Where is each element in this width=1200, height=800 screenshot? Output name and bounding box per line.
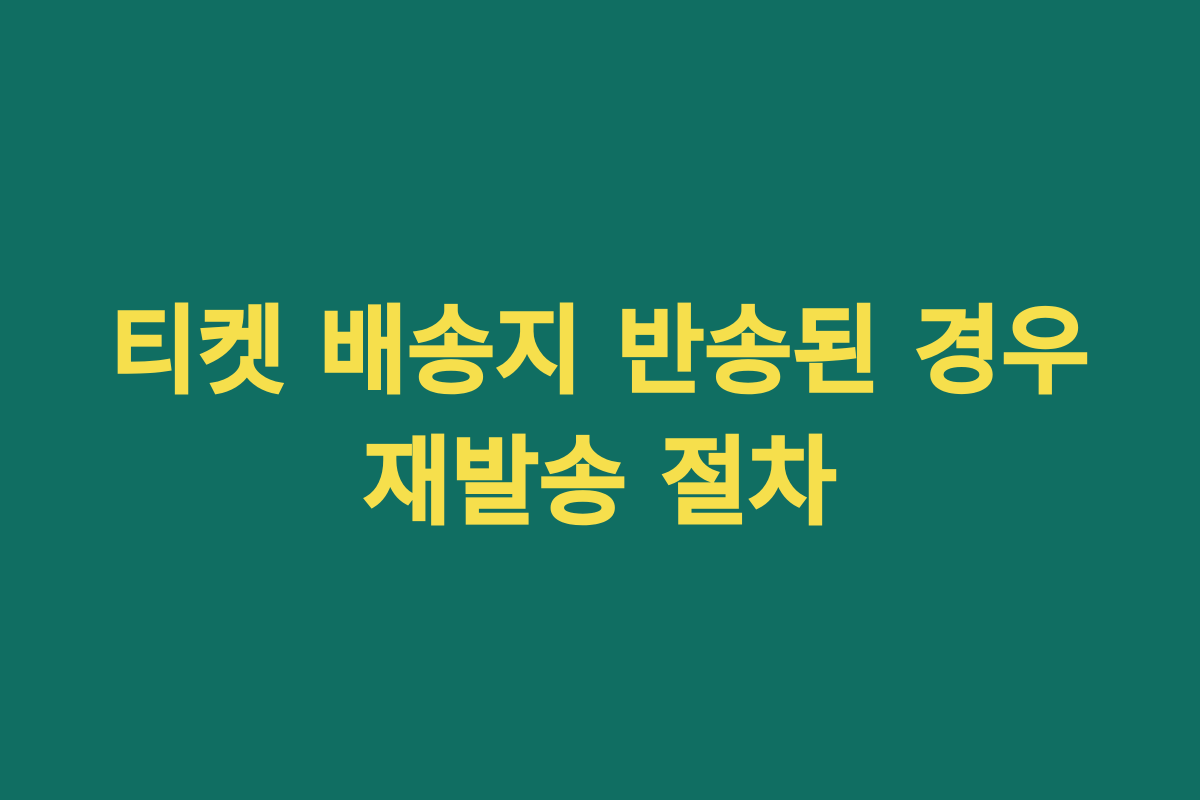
title-card: 티켓 배송지 반송된 경우 재발송 절차 (0, 0, 1200, 800)
headline-line-1: 티켓 배송지 반송된 경우 (0, 287, 1200, 418)
headline-block: 티켓 배송지 반송된 경우 재발송 절차 (0, 287, 1200, 549)
headline-line-2: 재발송 절차 (0, 418, 1200, 549)
